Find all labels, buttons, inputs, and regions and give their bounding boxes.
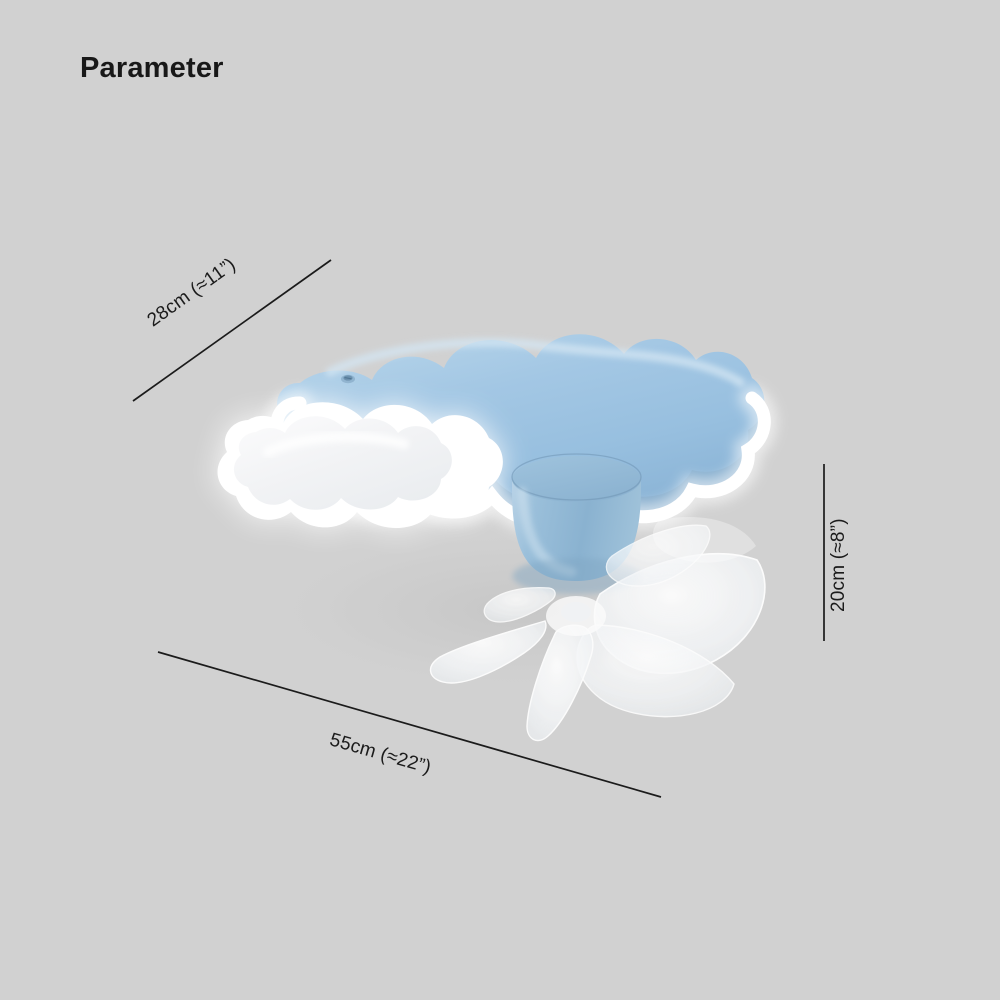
dimension-line-depth	[133, 260, 331, 401]
dimension-label-height: 20cm (≈8”)	[828, 518, 850, 612]
diagram-canvas: Parameter	[0, 0, 1000, 1000]
dimension-line-width	[158, 652, 661, 797]
dimension-lines	[0, 0, 1000, 1000]
